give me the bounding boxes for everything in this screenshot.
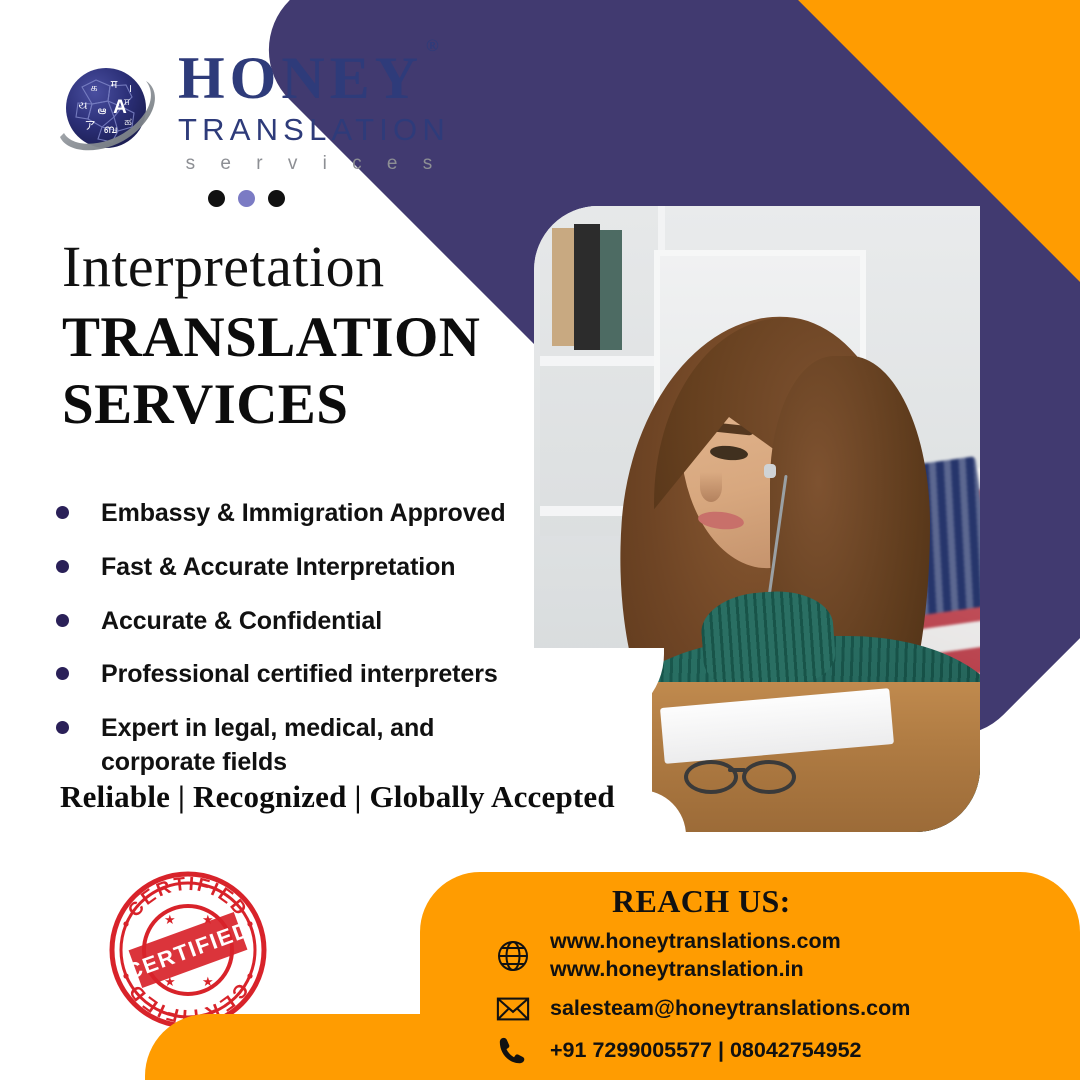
- envelope-icon: [492, 995, 534, 1023]
- accent-dot: [268, 190, 285, 207]
- contact-list: www.honeytranslations.com www.honeytrans…: [492, 928, 1052, 1079]
- footer-orange-tail: [145, 1014, 445, 1080]
- registered-mark-icon: ®: [426, 36, 439, 55]
- accent-dot: [208, 190, 225, 207]
- svg-text:ア: ア: [85, 119, 96, 132]
- svg-text:ય: ય: [78, 99, 87, 112]
- svg-text:।: ।: [128, 82, 132, 95]
- contact-row-email[interactable]: salesteam@honeytranslations.com: [492, 995, 1052, 1023]
- list-item-label: Accurate & Confidential: [101, 605, 382, 639]
- list-item: Embassy & Immigration Approved: [56, 497, 536, 531]
- accent-dot: [238, 190, 255, 207]
- brand-logo: க म । ય ఆ ਸ਼ ア ബ ಹ A HONEY® TRANSLATION …: [52, 48, 450, 173]
- bullet-dot-icon: [56, 560, 69, 573]
- list-item: Accurate & Confidential: [56, 605, 536, 639]
- svg-text:ఆ: ఆ: [98, 104, 107, 117]
- logo-name: HONEY®: [178, 48, 450, 108]
- hero-kicker: Interpretation: [62, 233, 385, 300]
- page-title: TRANSLATION SERVICES: [62, 305, 480, 438]
- certified-stamp-icon: CERTIFIED CERTIFIED CERTIFIED ★ ★ ★ ★: [106, 868, 270, 1032]
- shelf-divider: [540, 356, 664, 366]
- svg-text:A: A: [113, 97, 127, 118]
- list-item-label: Professional certified interpreters: [101, 658, 498, 692]
- logo-tertiary: s e r v i c e s: [178, 154, 450, 173]
- list-item: Expert in legal, medical, and corporate …: [56, 712, 536, 780]
- email-text: salesteam@honeytranslations.com: [550, 995, 910, 1023]
- svg-text:म: म: [111, 78, 118, 91]
- bullet-dot-icon: [56, 667, 69, 680]
- nose: [700, 472, 722, 502]
- tagline: Reliable | Recognized | Globally Accepte…: [60, 779, 615, 815]
- svg-text:★: ★: [202, 974, 214, 989]
- book: [574, 224, 600, 350]
- website-text: www.honeytranslations.com www.honeytrans…: [550, 928, 841, 983]
- email-address[interactable]: salesteam@honeytranslations.com: [550, 995, 910, 1023]
- contact-row-phone[interactable]: +91 7299005577 | 08042754952: [492, 1035, 1052, 1067]
- svg-text:★: ★: [164, 912, 176, 927]
- bullet-dot-icon: [56, 506, 69, 519]
- poster-canvas: க म । ય ఆ ਸ਼ ア ബ ಹ A HONEY® TRANSLATION …: [0, 0, 1080, 1080]
- phone-text: +91 7299005577 | 08042754952: [550, 1037, 862, 1065]
- reach-us-title: REACH US:: [612, 883, 791, 920]
- book: [552, 228, 574, 346]
- earphone-bud-icon: [764, 464, 776, 478]
- svg-text:★: ★: [202, 912, 214, 927]
- feature-list: Embassy & Immigration Approved Fast & Ac…: [56, 497, 536, 800]
- logo-wordmark: HONEY® TRANSLATION s e r v i c e s: [178, 48, 450, 173]
- phone-icon: [492, 1035, 534, 1067]
- headline-line-2: SERVICES: [62, 372, 480, 439]
- list-item: Fast & Accurate Interpretation: [56, 551, 536, 585]
- phone-numbers[interactable]: +91 7299005577 | 08042754952: [550, 1037, 862, 1065]
- list-item-label: Fast & Accurate Interpretation: [101, 551, 455, 585]
- website-line-2[interactable]: www.honeytranslation.in: [550, 956, 841, 984]
- logo-subtitle: TRANSLATION: [178, 114, 450, 145]
- svg-text:ബ: ബ: [103, 123, 117, 136]
- eyeglasses: [684, 756, 814, 790]
- bullet-dot-icon: [56, 614, 69, 627]
- book: [600, 230, 622, 350]
- list-item: Professional certified interpreters: [56, 658, 536, 692]
- headline-line-1: TRANSLATION: [62, 305, 480, 372]
- glasses-bridge: [728, 768, 746, 772]
- globe-icon: [492, 939, 534, 973]
- bullet-dot-icon: [56, 721, 69, 734]
- globe-languages-icon: க म । ય ఆ ਸ਼ ア ബ ಹ A: [52, 55, 164, 167]
- svg-text:க: க: [90, 81, 97, 94]
- accent-dots: [208, 190, 285, 207]
- svg-text:★: ★: [164, 974, 176, 989]
- logo-name-text: HONEY: [178, 45, 423, 111]
- list-item-label: Expert in legal, medical, and corporate …: [101, 712, 461, 780]
- contact-row-website[interactable]: www.honeytranslations.com www.honeytrans…: [492, 928, 1052, 983]
- list-item-label: Embassy & Immigration Approved: [101, 497, 506, 531]
- website-line-1[interactable]: www.honeytranslations.com: [550, 928, 841, 956]
